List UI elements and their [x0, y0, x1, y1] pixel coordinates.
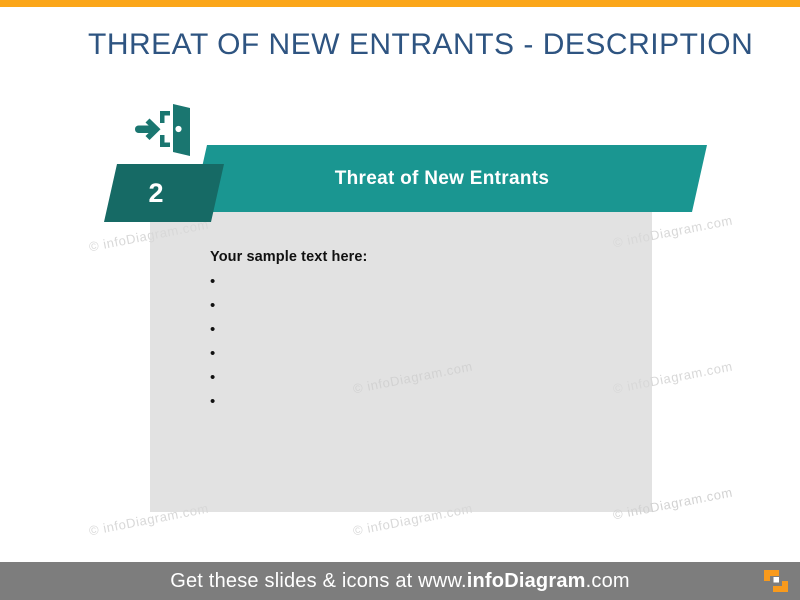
entrance-door-icon [133, 101, 195, 159]
infodiagram-logo-icon [762, 568, 790, 594]
footer-text-suffix: .com [586, 570, 630, 593]
list-item[interactable] [210, 298, 630, 322]
list-item[interactable] [210, 274, 630, 298]
footer-text-brand: infoDiagram [467, 570, 586, 593]
banner-ribbon [192, 145, 707, 212]
top-accent-bar [0, 0, 800, 7]
list-item[interactable] [210, 346, 630, 370]
list-item[interactable] [210, 394, 630, 418]
page-title: THREAT OF NEW ENTRANTS - DESCRIPTION [88, 28, 768, 62]
number-tab [104, 164, 224, 222]
sample-text-heading: Your sample text here: [210, 249, 630, 265]
footer-text: Get these slides & icons at www.infoDiag… [0, 562, 800, 600]
bullet-list [210, 274, 630, 418]
list-item[interactable] [210, 322, 630, 346]
body-block: Your sample text here: [210, 249, 630, 418]
footer-text-prefix: Get these slides & icons at www. [170, 570, 467, 593]
list-item[interactable] [210, 370, 630, 394]
